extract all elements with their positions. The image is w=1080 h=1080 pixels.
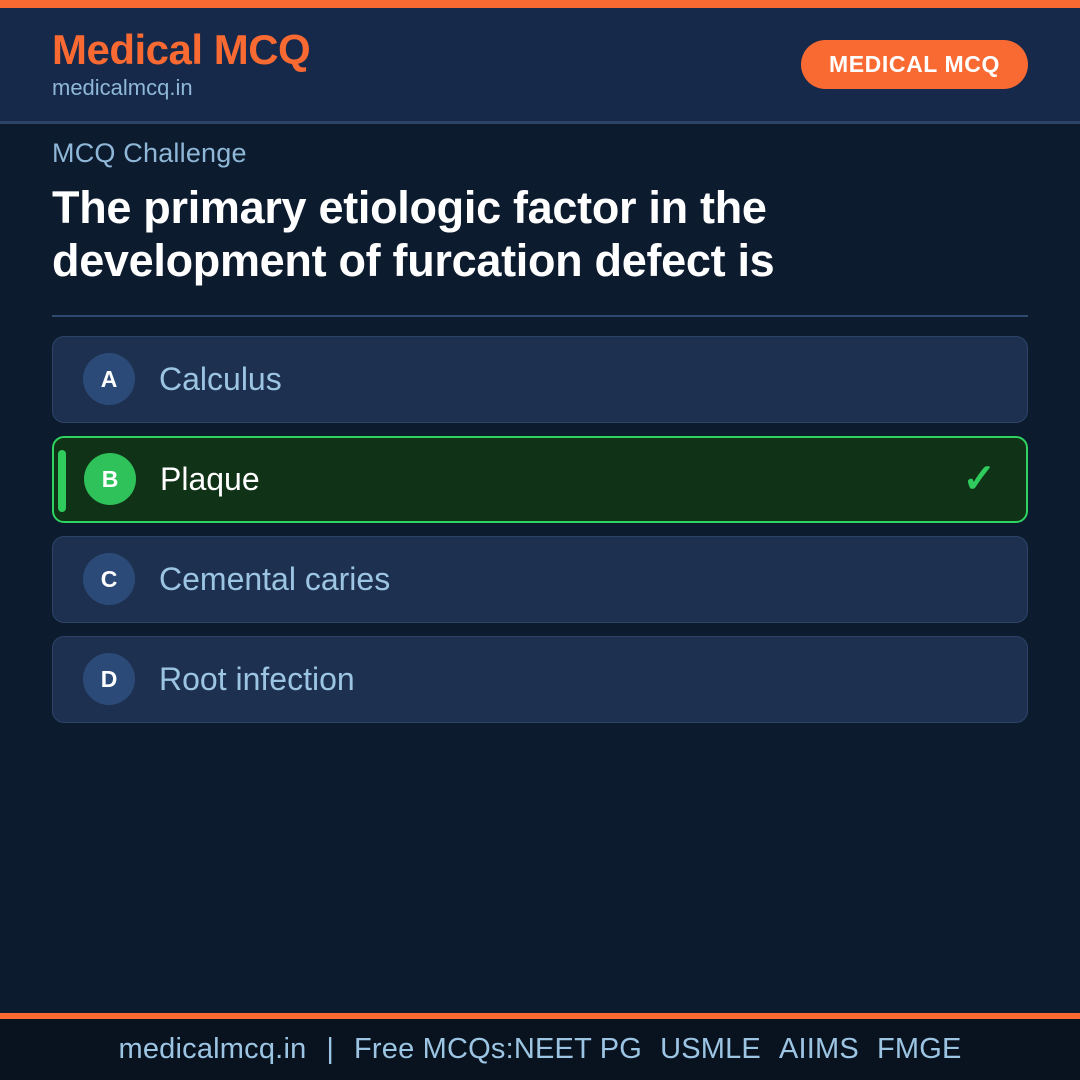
option-label-d: Root infection [159, 662, 355, 697]
option-label-b: Plaque [160, 462, 260, 497]
page-header: Medical MCQ medicalmcq.in MEDICAL MCQ [0, 8, 1080, 121]
option-row-b[interactable]: B Plaque ✓ [52, 436, 1028, 523]
top-accent-bar [0, 0, 1080, 8]
option-letter-badge-b: B [84, 453, 136, 505]
footer-exam-list: NEET PG USMLE AIIMS FMGE [514, 1033, 962, 1066]
brand-block: Medical MCQ medicalmcq.in [52, 28, 310, 102]
question-block: MCQ Challenge The primary etiologic fact… [52, 139, 1028, 723]
option-label-a: Calculus [159, 362, 282, 397]
footer-exam-aiims: AIIMS [779, 1033, 859, 1066]
option-letter-badge-d: D [83, 653, 135, 705]
question-divider [52, 315, 1028, 317]
eyebrow-label: MCQ Challenge [52, 139, 1028, 169]
options-list: A Calculus ✓ B Plaque ✓ C Cemental carie… [52, 336, 1028, 723]
check-icon-b: ✓ [962, 459, 996, 499]
footer-site[interactable]: medicalmcq.in [118, 1033, 306, 1066]
footer-exam-usmle: USMLE [660, 1033, 761, 1066]
page-footer: medicalmcq.in | Free MCQs: NEET PG USMLE… [0, 1019, 1080, 1080]
option-letter-badge-a: A [83, 353, 135, 405]
option-row-a[interactable]: A Calculus ✓ [52, 336, 1028, 423]
option-label-c: Cemental caries [159, 562, 390, 597]
correct-accent-bar [58, 450, 66, 512]
option-letter-badge-c: C [83, 553, 135, 605]
footer-exam-fmge: FMGE [877, 1033, 962, 1066]
header-badge: MEDICAL MCQ [801, 40, 1028, 89]
brand-title: Medical MCQ [52, 28, 310, 72]
option-row-c[interactable]: C Cemental caries ✓ [52, 536, 1028, 623]
question-text: The primary etiologic factor in the deve… [52, 181, 952, 287]
footer-prefix: Free MCQs: [354, 1033, 514, 1066]
brand-subtitle: medicalmcq.in [52, 74, 310, 102]
footer-separator: | [306, 1033, 354, 1066]
option-row-d[interactable]: D Root infection ✓ [52, 636, 1028, 723]
footer-exam-neetpg: NEET PG [514, 1033, 642, 1066]
